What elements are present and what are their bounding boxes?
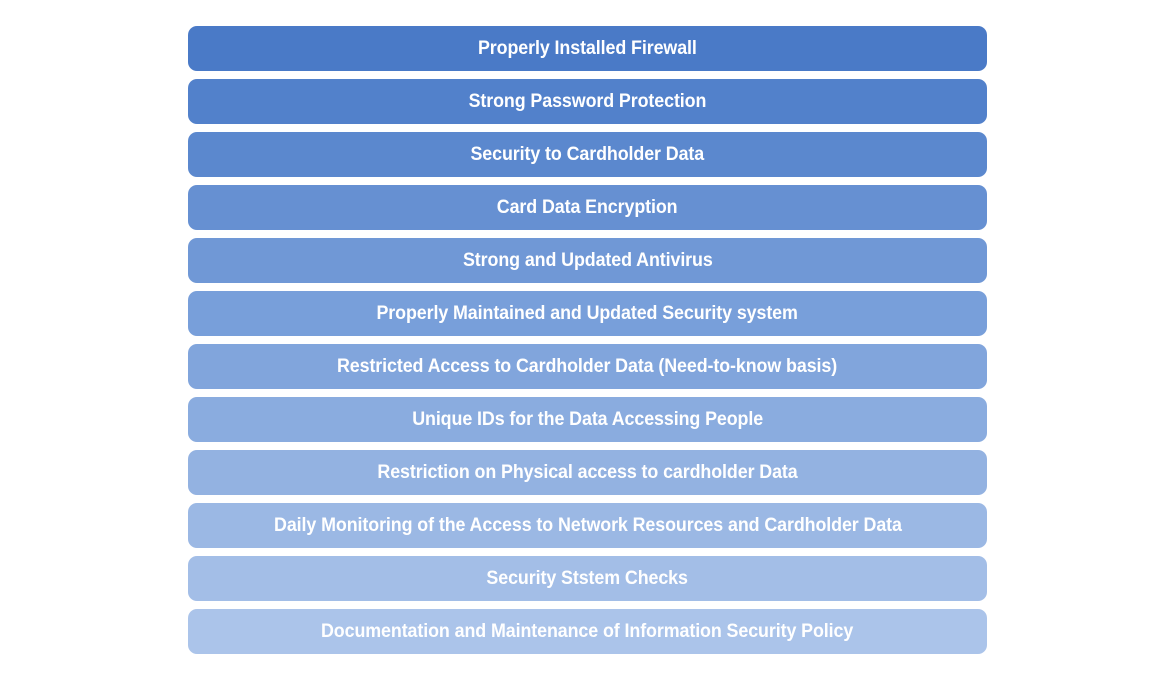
requirement-bar[interactable]: Security to Cardholder Data: [188, 132, 987, 177]
requirement-bar[interactable]: Card Data Encryption: [188, 185, 987, 230]
requirement-bar-label: Documentation and Maintenance of Informa…: [321, 622, 853, 641]
requirement-bar-label: Unique IDs for the Data Accessing People: [412, 410, 763, 429]
requirement-bar[interactable]: Unique IDs for the Data Accessing People: [188, 397, 987, 442]
requirement-bar-label: Strong and Updated Antivirus: [463, 251, 713, 270]
requirement-bar[interactable]: Properly Maintained and Updated Security…: [188, 291, 987, 336]
requirement-bar[interactable]: Restriction on Physical access to cardho…: [188, 450, 987, 495]
pci-requirements-diagram: Properly Installed Firewall Strong Passw…: [0, 0, 1176, 694]
requirement-bar-label: Properly Installed Firewall: [478, 39, 697, 58]
requirement-bar[interactable]: Restricted Access to Cardholder Data (Ne…: [188, 344, 987, 389]
requirement-bar-stack: Properly Installed Firewall Strong Passw…: [188, 26, 987, 662]
requirement-bar-label: Card Data Encryption: [497, 198, 678, 217]
requirement-bar[interactable]: Daily Monitoring of the Access to Networ…: [188, 503, 987, 548]
requirement-bar[interactable]: Security Ststem Checks: [188, 556, 987, 601]
requirement-bar-label: Strong Password Protection: [469, 92, 707, 111]
requirement-bar-label: Properly Maintained and Updated Security…: [377, 304, 798, 323]
requirement-bar-label: Restricted Access to Cardholder Data (Ne…: [337, 357, 837, 376]
requirement-bar-label: Restriction on Physical access to cardho…: [377, 463, 797, 482]
requirement-bar-label: Daily Monitoring of the Access to Networ…: [274, 516, 902, 535]
requirement-bar-label: Security Ststem Checks: [487, 569, 688, 588]
requirement-bar[interactable]: Documentation and Maintenance of Informa…: [188, 609, 987, 654]
requirement-bar[interactable]: Strong and Updated Antivirus: [188, 238, 987, 283]
requirement-bar[interactable]: Strong Password Protection: [188, 79, 987, 124]
requirement-bar-label: Security to Cardholder Data: [471, 145, 705, 164]
requirement-bar[interactable]: Properly Installed Firewall: [188, 26, 987, 71]
